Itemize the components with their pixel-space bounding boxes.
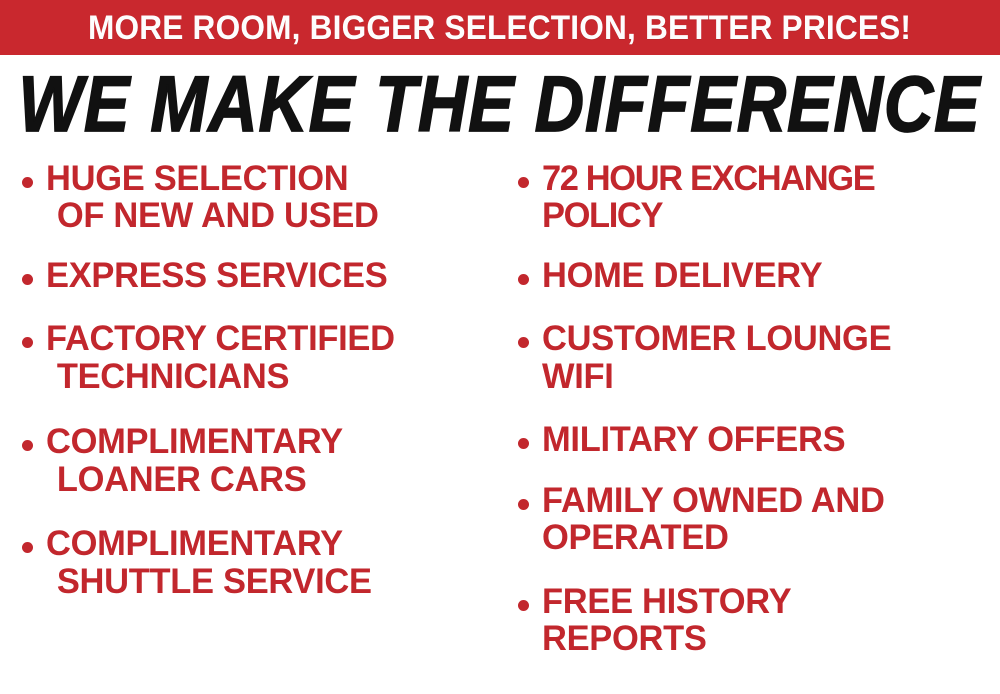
list-item: FREE HISTORY REPORTS (518, 583, 994, 658)
list-item-label: FREE HISTORY REPORTS (542, 583, 791, 658)
list-item-line2: SHUTTLE SERVICE (57, 563, 372, 600)
list-item-label: 72 HOUR EXCHANGE POLICY (542, 160, 874, 235)
list-item-line1: FAMILY OWNED AND (542, 481, 885, 520)
list-item: CUSTOMER LOUNGE WIFI (518, 320, 994, 395)
list-item-label: FACTORY CERTIFIED TECHNICIANS (46, 320, 395, 395)
headline-container: WE MAKE THE DIFFERENCE (0, 62, 1000, 148)
list-item-label: HOME DELIVERY (542, 257, 822, 294)
list-item: MILITARY OFFERS (518, 421, 994, 458)
bullet-dot-icon (518, 274, 529, 285)
list-item: FACTORY CERTIFIED TECHNICIANS (22, 320, 492, 395)
promo-banner: MORE ROOM, BIGGER SELECTION, BETTER PRIC… (0, 0, 1000, 55)
list-item-line1: HOME DELIVERY (542, 256, 822, 295)
list-item-label: COMPLIMENTARY LOANER CARS (46, 423, 343, 498)
list-item-line1: EXPRESS SERVICES (46, 256, 387, 295)
benefits-column-right: 72 HOUR EXCHANGE POLICY HOME DELIVERY CU… (500, 160, 1000, 683)
list-item-line1: FREE HISTORY (542, 582, 791, 621)
benefits-columns: HUGE SELECTION OF NEW AND USED EXPRESS S… (0, 160, 1000, 694)
list-item-line2: LOANER CARS (57, 461, 343, 498)
list-item-line2: OPERATED (542, 519, 885, 556)
list-item: COMPLIMENTARY SHUTTLE SERVICE (22, 525, 492, 600)
list-item: 72 HOUR EXCHANGE POLICY (518, 160, 994, 235)
list-item-label: COMPLIMENTARY SHUTTLE SERVICE (46, 525, 372, 600)
bullet-dot-icon (22, 274, 33, 285)
list-item-line2: WIFI (542, 358, 891, 395)
bullet-dot-icon (518, 499, 529, 510)
bullet-dot-icon (518, 337, 529, 348)
list-item-label: HUGE SELECTION OF NEW AND USED (46, 160, 379, 235)
bullet-dot-icon (22, 177, 33, 188)
list-item: HUGE SELECTION OF NEW AND USED (22, 160, 492, 235)
page-title: WE MAKE THE DIFFERENCE (19, 65, 981, 144)
list-item-line2: TECHNICIANS (57, 358, 395, 395)
list-item-line1: COMPLIMENTARY (46, 524, 343, 563)
list-item-line1: HUGE SELECTION (46, 159, 348, 198)
list-item-line2: POLICY (542, 197, 874, 234)
bullet-dot-icon (518, 600, 529, 611)
list-item: COMPLIMENTARY LOANER CARS (22, 423, 492, 498)
list-item: FAMILY OWNED AND OPERATED (518, 482, 994, 557)
list-item-line1: COMPLIMENTARY (46, 422, 343, 461)
promo-banner-text: MORE ROOM, BIGGER SELECTION, BETTER PRIC… (88, 11, 911, 45)
list-item-line1: MILITARY OFFERS (542, 420, 845, 459)
list-item-line2: REPORTS (542, 620, 791, 657)
list-item: EXPRESS SERVICES (22, 257, 492, 294)
list-item-line1: 72 HOUR EXCHANGE (542, 159, 874, 198)
list-item-label: CUSTOMER LOUNGE WIFI (542, 320, 891, 395)
list-item-label: FAMILY OWNED AND OPERATED (542, 482, 885, 557)
bullet-dot-icon (22, 337, 33, 348)
bullet-dot-icon (22, 440, 33, 451)
list-item-line2: OF NEW AND USED (57, 197, 379, 234)
list-item: HOME DELIVERY (518, 257, 994, 294)
dealership-benefits-poster: MORE ROOM, BIGGER SELECTION, BETTER PRIC… (0, 0, 1000, 694)
list-item-label: MILITARY OFFERS (542, 421, 845, 458)
list-item-line1: CUSTOMER LOUNGE (542, 319, 891, 358)
list-item-line1: FACTORY CERTIFIED (46, 319, 395, 358)
bullet-dot-icon (518, 177, 529, 188)
bullet-dot-icon (22, 542, 33, 553)
bullet-dot-icon (518, 438, 529, 449)
list-item-label: EXPRESS SERVICES (46, 257, 387, 294)
benefits-column-left: HUGE SELECTION OF NEW AND USED EXPRESS S… (0, 160, 500, 626)
